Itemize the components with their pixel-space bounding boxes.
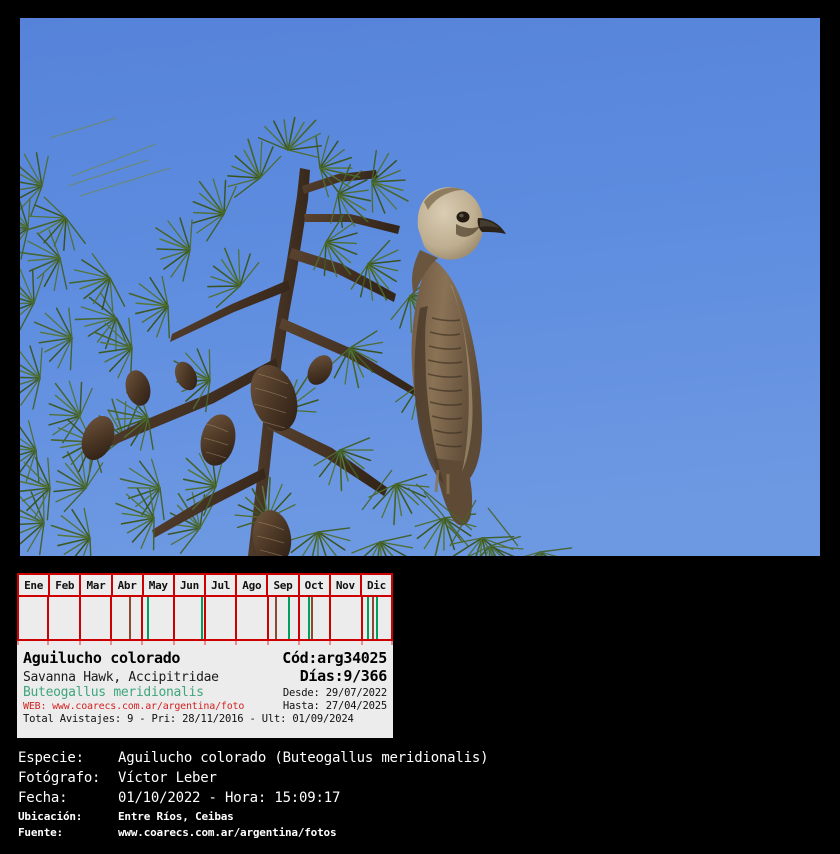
- tick-abr-photo: [129, 597, 131, 639]
- tick-dic-sighting-b: [376, 597, 378, 639]
- calendar-foot-divider-9: [298, 641, 300, 645]
- calendar-month-divider-7: [235, 597, 237, 639]
- month-cell-mar: Mar: [81, 575, 112, 595]
- calendar-foot-divider-2: [79, 641, 81, 645]
- month-cell-ene: Ene: [17, 575, 50, 595]
- month-calendar: Ene Feb Mar Abr May Jun Jul Ago Sep Oct …: [17, 573, 393, 647]
- species-common-name: Aguilucho colorado: [23, 649, 180, 667]
- month-cell-oct: Oct: [300, 575, 331, 595]
- calendar-foot-divider-1: [47, 641, 49, 645]
- tick-sep-sighting: [288, 597, 290, 639]
- month-cell-jun: Jun: [175, 575, 206, 595]
- calendar-foot-divider-10: [329, 641, 331, 645]
- month-cell-feb: Feb: [50, 575, 81, 595]
- species-english-family: Savanna Hawk, Accipitridae: [23, 670, 219, 685]
- calendar-foot-divider-4: [141, 641, 143, 645]
- month-cell-nov: Nov: [331, 575, 362, 595]
- calendar-month-divider-10: [329, 597, 331, 639]
- tick-dic-photo: [372, 597, 374, 639]
- caption-label-fuente: Fuente:: [18, 826, 118, 839]
- month-cell-abr: Abr: [113, 575, 144, 595]
- calendar-foot-divider-5: [173, 641, 175, 645]
- species-hasta: Hasta: 27/04/2025: [283, 700, 387, 712]
- tick-dic-sighting-a: [367, 597, 369, 639]
- bird-photograph: [20, 18, 820, 556]
- calendar-month-divider-8: [267, 597, 269, 639]
- species-days: Días:9/366: [300, 667, 387, 685]
- calendar-foot-divider-12: [391, 641, 393, 645]
- caption-row-fotografo: Fotógrafo: Víctor Leber: [18, 770, 818, 790]
- calendar-month-divider-5: [173, 597, 175, 639]
- tick-oct-sighting: [308, 597, 310, 639]
- caption-value-fuente[interactable]: www.coarecs.com.ar/argentina/fotos: [118, 826, 336, 839]
- calendar-month-divider-3: [110, 597, 112, 639]
- calendar-foot-divider-8: [267, 641, 269, 645]
- tick-oct-photo: [311, 597, 313, 639]
- calendar-foot-divider-3: [110, 641, 112, 645]
- species-scientific-name: Buteogallus meridionalis: [23, 685, 204, 700]
- calendar-foot-divider-0: [17, 641, 19, 645]
- calendar-month-divider-1: [47, 597, 49, 639]
- caption-label-fotografo: Fotógrafo:: [18, 770, 118, 786]
- page-root: Ene Feb Mar Abr May Jun Jul Ago Sep Oct …: [0, 0, 840, 854]
- caption-row-fecha: Fecha: 01/10/2022 - Hora: 15:09:17: [18, 790, 818, 810]
- hawk-eye: [457, 212, 470, 223]
- tick-jun-sighting: [201, 597, 203, 639]
- calendar-month-divider-0: [17, 597, 19, 639]
- photo-caption-block: Especie: Aguilucho colorado (Buteogallus…: [18, 750, 818, 842]
- calendar-month-divider-12: [391, 597, 393, 639]
- caption-label-especie: Especie:: [18, 750, 118, 766]
- caption-row-fuente: Fuente: www.coarecs.com.ar/argentina/fot…: [18, 826, 818, 842]
- calendar-month-divider-2: [79, 597, 81, 639]
- calendar-footer-ticks: [17, 641, 393, 645]
- month-cell-may: May: [144, 575, 175, 595]
- calendar-month-divider-11: [361, 597, 363, 639]
- caption-value-ubicacion: Entre Ríos, Ceibas: [118, 810, 234, 823]
- calendar-foot-divider-11: [361, 641, 363, 645]
- calendar-foot-divider-7: [235, 641, 237, 645]
- species-info-panel: Ene Feb Mar Abr May Jun Jul Ago Sep Oct …: [17, 573, 393, 738]
- calendar-foot-divider-6: [204, 641, 206, 645]
- tick-sep-photo: [275, 597, 277, 639]
- caption-value-fotografo: Víctor Leber: [118, 770, 217, 786]
- calendar-month-header: Ene Feb Mar Abr May Jun Jul Ago Sep Oct …: [17, 573, 393, 597]
- caption-row-ubicacion: Ubicación: Entre Ríos, Ceibas: [18, 810, 818, 826]
- tick-abr-sighting: [147, 597, 149, 639]
- species-desde: Desde: 29/07/2022: [283, 687, 387, 699]
- caption-value-especie: Aguilucho colorado (Buteogallus meridion…: [118, 750, 488, 766]
- species-web-link[interactable]: WEB: www.coarecs.com.ar/argentina/foto: [23, 701, 244, 712]
- month-cell-jul: Jul: [206, 575, 237, 595]
- caption-row-especie: Especie: Aguilucho colorado (Buteogallus…: [18, 750, 818, 770]
- month-cell-sep: Sep: [268, 575, 299, 595]
- calendar-month-divider-6: [204, 597, 206, 639]
- calendar-sighting-track: [17, 597, 393, 641]
- calendar-month-divider-4: [141, 597, 143, 639]
- caption-value-fecha: 01/10/2022 - Hora: 15:09:17: [118, 790, 340, 806]
- caption-label-ubicacion: Ubicación:: [18, 810, 118, 823]
- species-details: Aguilucho colorado Cód:arg34025 Savanna …: [17, 647, 393, 725]
- photo-canvas: [20, 18, 820, 556]
- species-code: Cód:arg34025: [282, 649, 387, 667]
- month-cell-ago: Ago: [237, 575, 268, 595]
- calendar-month-divider-9: [298, 597, 300, 639]
- species-total-sightings: Total Avistajes: 9 - Pri: 28/11/2016 - U…: [23, 712, 354, 725]
- caption-label-fecha: Fecha:: [18, 790, 118, 806]
- month-cell-dic: Dic: [362, 575, 393, 595]
